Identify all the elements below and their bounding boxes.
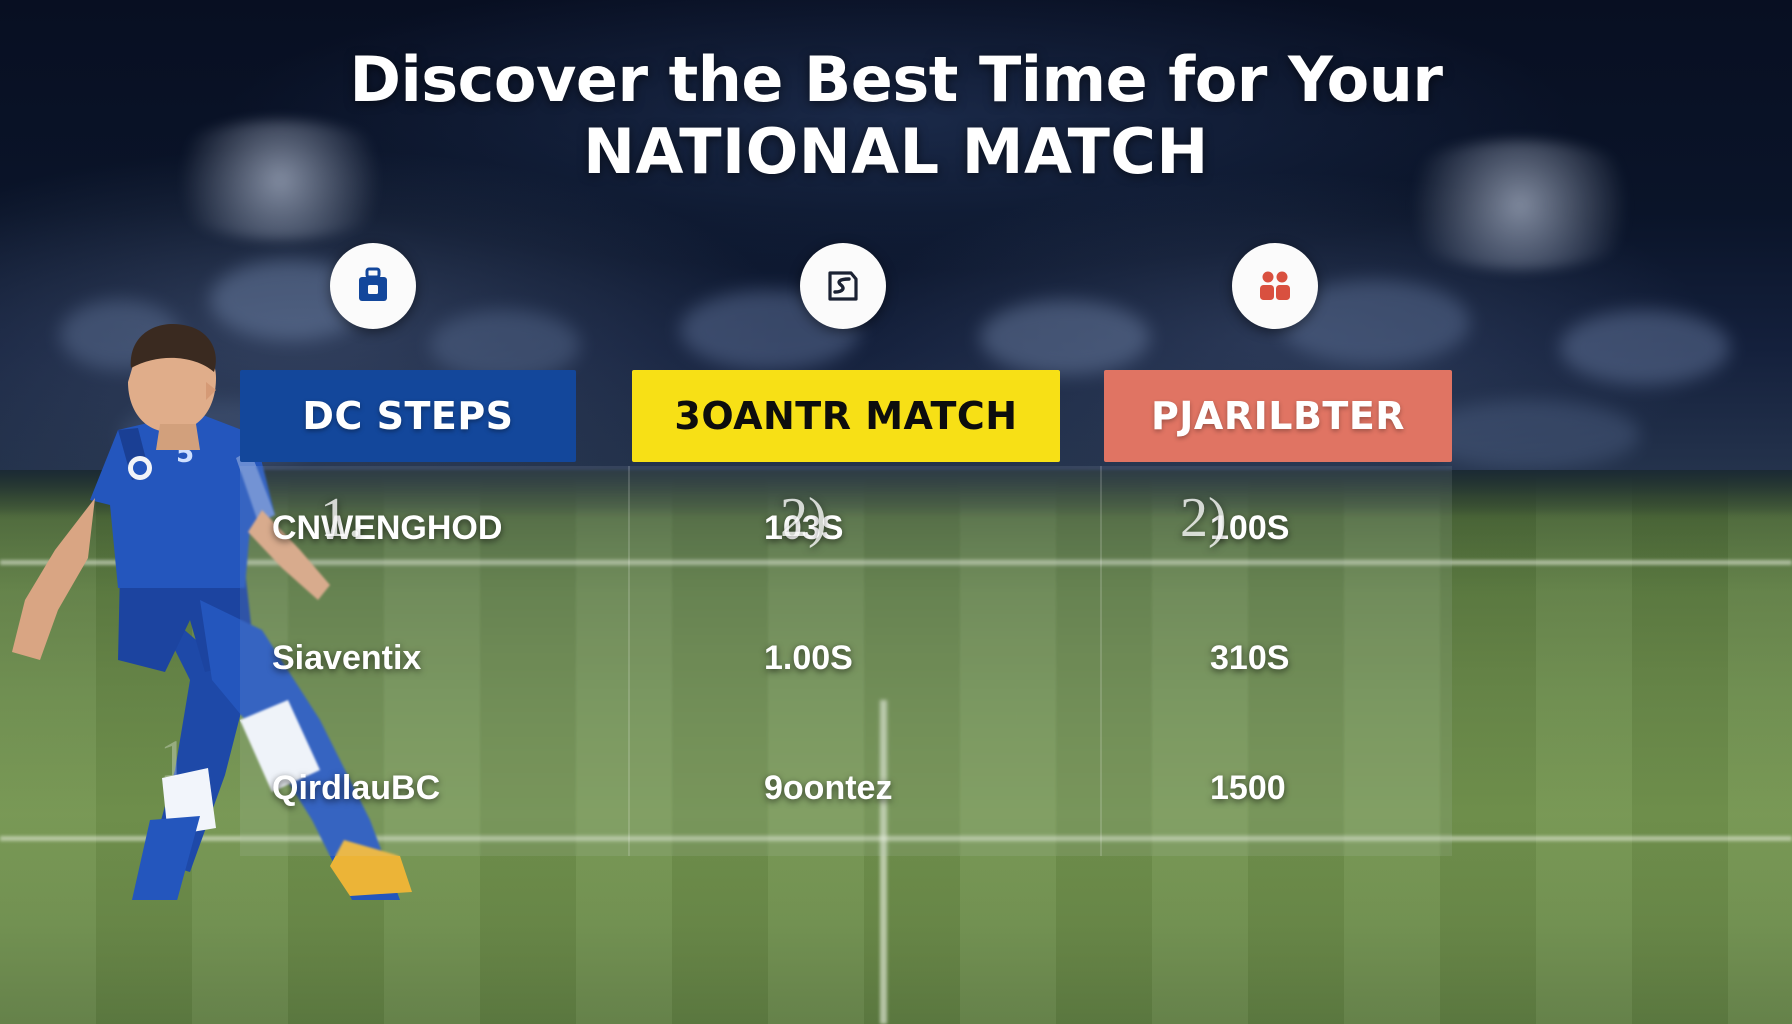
title-line-1: Discover the Best Time for Your (0, 44, 1792, 116)
table-row[interactable]: Siaventix 1.00S 310S (240, 596, 1452, 726)
comparison-table-rows: CNWENGHOD 103S 100S Siaventix 1.00S 310S… (240, 466, 1452, 856)
column-header-player[interactable]: PJARILBTER (1104, 370, 1452, 462)
table-row[interactable]: CNWENGHOD 103S 100S (240, 466, 1452, 596)
row-match-value: 1.00S (764, 622, 1084, 694)
row-rank-marker: 1. (320, 486, 362, 550)
title-line-2: NATIONAL MATCH (0, 116, 1792, 188)
column-header-match[interactable]: 3OANTR MATCH (632, 370, 1060, 462)
column-header-bands: DC STEPS 3OANTR MATCH PJARILBTER (0, 370, 1792, 462)
row-player-value: 310S (1210, 622, 1470, 694)
row-player-value: 100S (1210, 492, 1470, 564)
document-swoosh-icon-glyph (821, 264, 865, 308)
column-header-label: DC STEPS (302, 394, 513, 438)
row-name: Siaventix (272, 622, 602, 694)
row-rank-marker: 2) (780, 486, 827, 550)
column-header-label: PJARILBTER (1151, 394, 1405, 438)
row-name: QirdlauBC (272, 752, 602, 824)
briefcase-icon[interactable] (330, 243, 416, 329)
column-header-dc-steps[interactable]: DC STEPS (240, 370, 576, 462)
row-rank-marker: 1 (160, 728, 187, 790)
row-match-value: 9oontez (764, 752, 1084, 824)
page-title: Discover the Best Time for Your NATIONAL… (0, 44, 1792, 188)
document-swoosh-icon[interactable] (800, 243, 886, 329)
icon-row (0, 243, 1792, 329)
people-group-icon-glyph (1253, 264, 1297, 308)
column-header-label: 3OANTR MATCH (674, 394, 1017, 438)
table-row[interactable]: QirdlauBC 9oontez 1500 (240, 726, 1452, 856)
row-rank-marker: 2) (1180, 486, 1227, 550)
row-player-value: 1500 (1210, 752, 1470, 824)
people-group-icon[interactable] (1232, 243, 1318, 329)
briefcase-icon-glyph (352, 265, 394, 307)
